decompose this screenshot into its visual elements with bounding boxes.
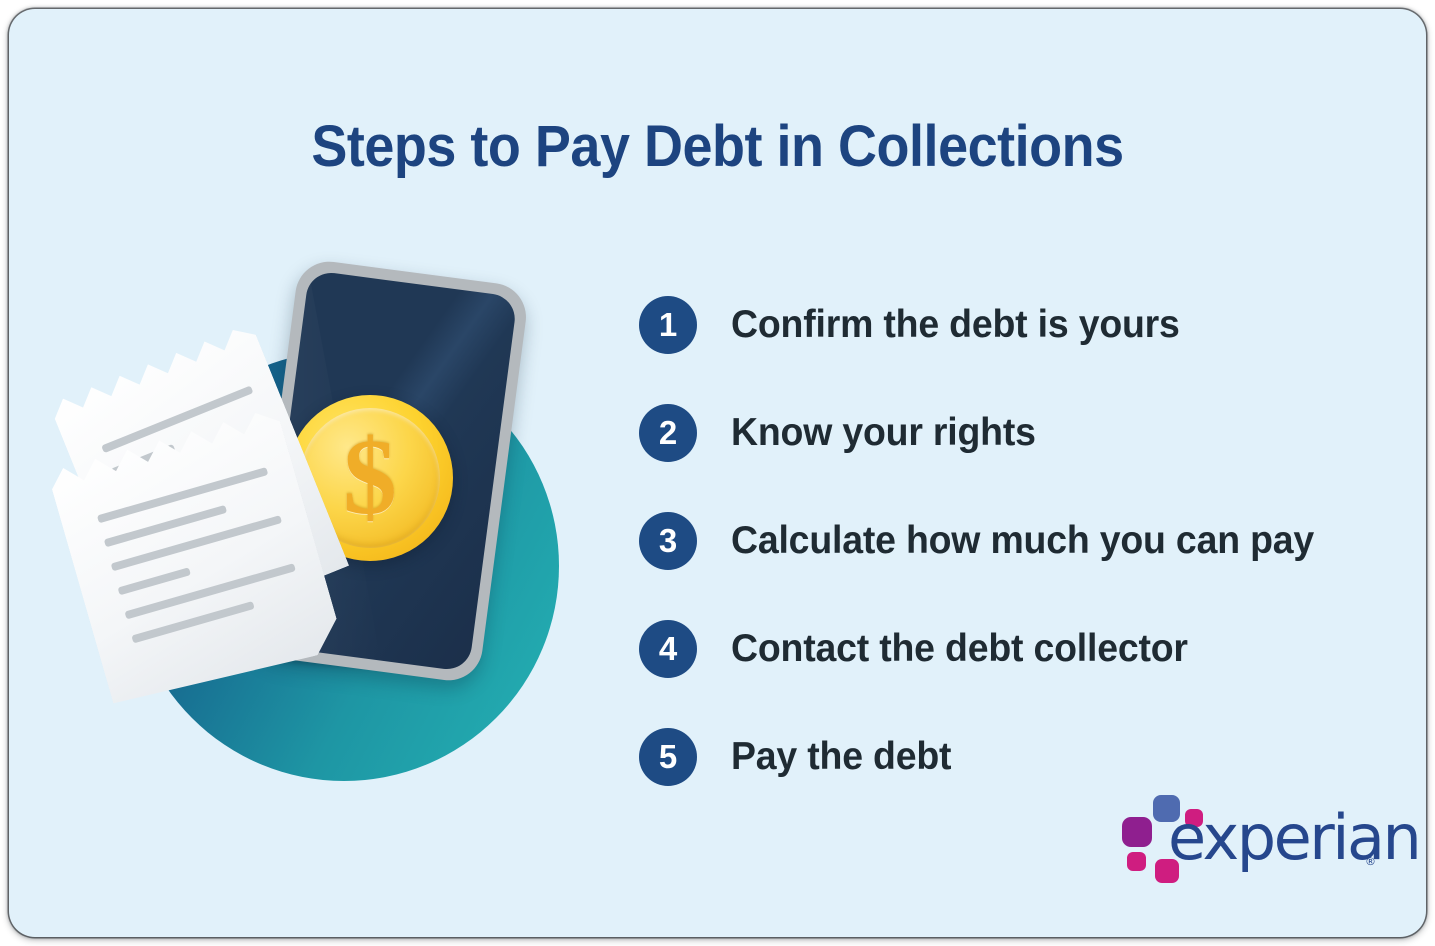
infographic-card: Steps to Pay Debt in Collections $ (9, 9, 1426, 937)
experian-wordmark: experian (1168, 807, 1419, 869)
step-item-4: 4 Contact the debt collector (639, 595, 1379, 703)
logo-square-purple-icon (1122, 817, 1152, 847)
steps-list: 1 Confirm the debt is yours 2 Know your … (639, 271, 1379, 811)
step-item-3: 3 Calculate how much you can pay (639, 487, 1379, 595)
step-number-badge-3: 3 (639, 512, 697, 570)
receipt-lines (97, 467, 308, 660)
step-item-1: 1 Confirm the debt is yours (639, 271, 1379, 379)
step-number-badge-5: 5 (639, 728, 697, 786)
receipt-line (110, 515, 281, 571)
page-title: Steps to Pay Debt in Collections (59, 113, 1377, 180)
step-label-2: Know your rights (731, 411, 1036, 455)
step-item-2: 2 Know your rights (639, 379, 1379, 487)
step-label-1: Confirm the debt is yours (731, 303, 1180, 347)
illustration-phone-coin-receipts: $ (83, 259, 583, 769)
step-number-badge-2: 2 (639, 404, 697, 462)
step-label-5: Pay the debt (731, 735, 951, 779)
step-number-badge-1: 1 (639, 296, 697, 354)
registered-trademark-icon: ® (1365, 855, 1376, 868)
receipt-line (124, 563, 295, 619)
experian-logo: experian ® (1122, 793, 1377, 885)
receipt-line (117, 567, 190, 595)
step-number-badge-4: 4 (639, 620, 697, 678)
logo-square-magenta-mid-icon (1127, 852, 1146, 871)
receipt-line (97, 467, 268, 523)
step-label-3: Calculate how much you can pay (731, 519, 1314, 563)
step-label-4: Contact the debt collector (731, 627, 1188, 671)
